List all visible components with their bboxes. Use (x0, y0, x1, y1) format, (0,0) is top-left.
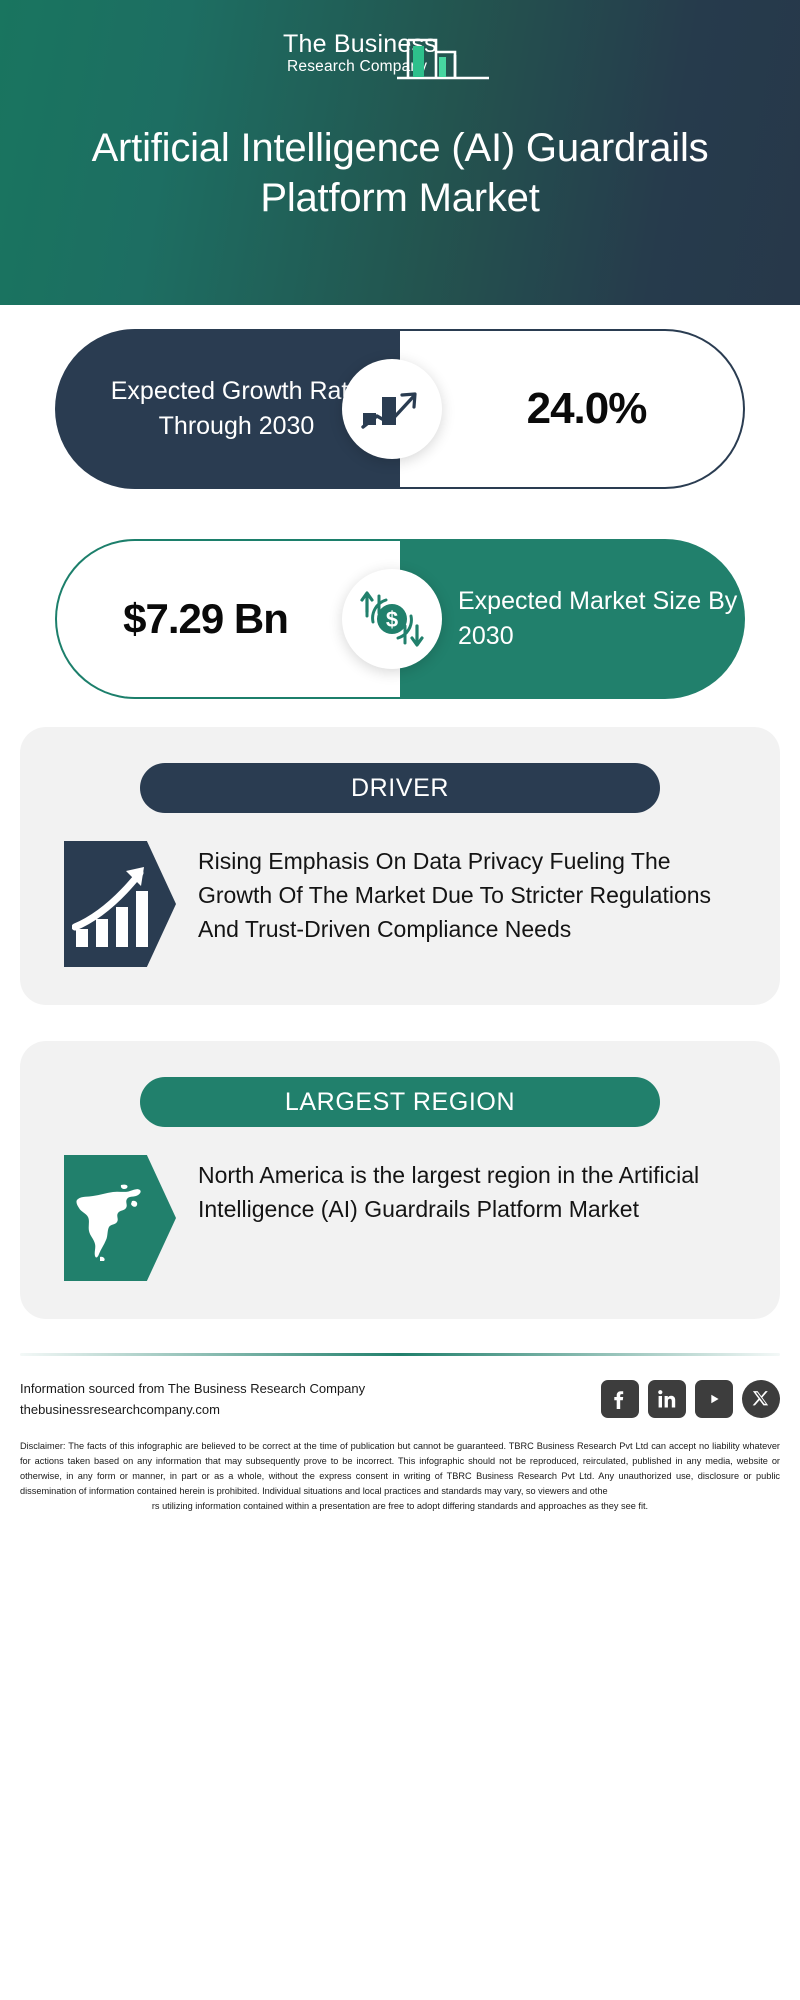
linkedin-icon[interactable] (648, 1380, 686, 1418)
growth-chart-arrow-icon (342, 359, 442, 459)
source-line-1: Information sourced from The Business Re… (20, 1378, 365, 1399)
growth-rate-value: 24.0% (527, 384, 647, 434)
driver-body: Rising Emphasis On Data Privacy Fueling … (20, 841, 780, 967)
disclaimer-main: Disclaimer: The facts of this infographi… (20, 1441, 780, 1496)
disclaimer: Disclaimer: The facts of this infographi… (20, 1439, 780, 1514)
market-size-label: Expected Market Size By 2030 (400, 539, 745, 699)
driver-text: Rising Emphasis On Data Privacy Fueling … (198, 841, 740, 946)
infographic-page: The Business Research Company Artificial… (0, 0, 800, 2000)
largest-region-text: North America is the largest region in t… (198, 1155, 740, 1227)
stats-section: Expected Growth Rate Through 2030 24.0% … (0, 305, 800, 709)
driver-pill: DRIVER (140, 763, 660, 813)
growth-rate-card: Expected Growth Rate Through 2030 24.0% (40, 317, 760, 499)
dollar-cycle-icon: $ (342, 569, 442, 669)
facebook-icon[interactable] (601, 1380, 639, 1418)
driver-panel: DRIVER Rising Emphasis On Data Privacy F… (20, 727, 780, 1005)
footer-divider (20, 1353, 780, 1356)
x-twitter-icon[interactable] (742, 1380, 780, 1418)
north-america-map-icon (64, 1155, 176, 1281)
page-title: Artificial Intelligence (AI) Guardrails … (40, 124, 760, 223)
rising-bar-chart-icon (64, 841, 176, 967)
disclaimer-last: rs utilizing information contained withi… (20, 1499, 780, 1514)
company-logo: The Business Research Company (275, 22, 525, 88)
largest-region-panel: LARGEST REGION North America is the larg… (20, 1041, 780, 1319)
market-size-value: $7.29 Bn (123, 594, 288, 644)
social-links (601, 1380, 780, 1418)
logo-bar-green-short (439, 57, 446, 77)
footer: Information sourced from The Business Re… (20, 1378, 780, 1421)
logo-line2: Research Company (287, 58, 427, 75)
source-info: Information sourced from The Business Re… (20, 1378, 365, 1421)
header-banner: The Business Research Company Artificial… (0, 0, 800, 305)
largest-region-pill: LARGEST REGION (140, 1077, 660, 1127)
youtube-icon[interactable] (695, 1380, 733, 1418)
svg-text:$: $ (386, 607, 398, 632)
source-line-2[interactable]: thebusinessresearchcompany.com (20, 1399, 365, 1420)
growth-rate-value-box: 24.0% (400, 329, 745, 489)
logo-bar-green-tall (413, 46, 424, 77)
market-size-card: $7.29 Bn Expected Market Size By 2030 $ (40, 527, 760, 709)
largest-region-body: North America is the largest region in t… (20, 1155, 780, 1281)
